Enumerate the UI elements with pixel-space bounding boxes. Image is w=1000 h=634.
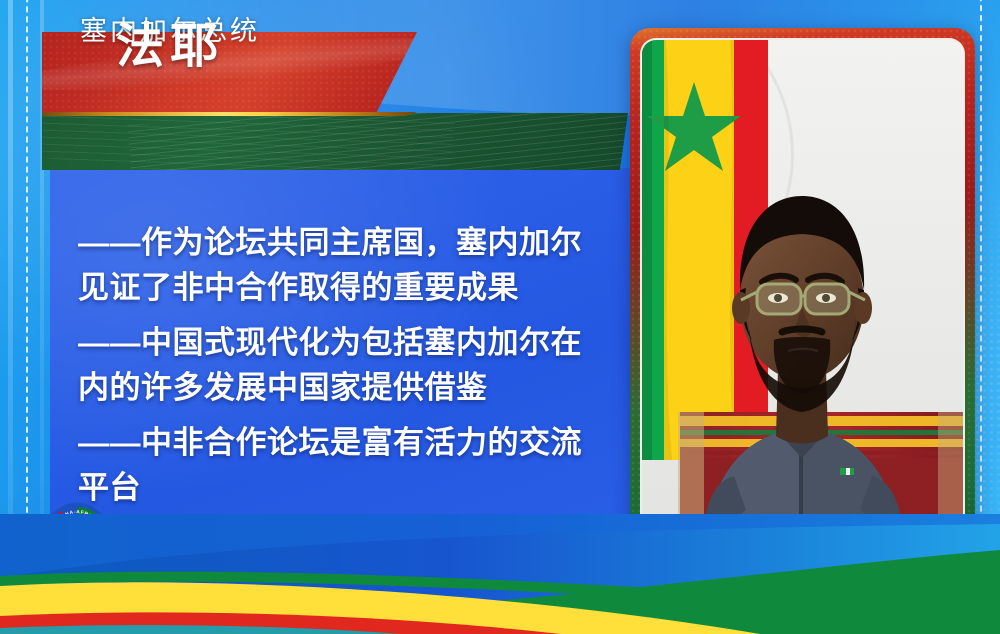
subtitle-line-texture-secondary bbox=[42, 113, 455, 170]
quote-item: ——中国式现代化为包括塞内加尔在内的许多发展中国家提供借鉴 bbox=[78, 320, 608, 410]
gold-divider-rule bbox=[42, 112, 417, 116]
portrait-illustration bbox=[642, 40, 963, 572]
bottom-color-bands bbox=[0, 514, 1000, 634]
broadcast-graphic: 塞内加尔总统 法耶 ——作为论坛共同主席国，塞内加尔见证了非中合作取得的重要成果… bbox=[0, 0, 1000, 634]
portrait-frame bbox=[630, 28, 975, 584]
speaker-name: 法耶 bbox=[0, 0, 340, 82]
quote-item: ——作为论坛共同主席国，塞内加尔见证了非中合作取得的重要成果 bbox=[78, 220, 608, 310]
portrait-photo bbox=[642, 40, 963, 572]
subtitle-bar bbox=[42, 113, 628, 170]
quote-item: ——中非合作论坛是富有活力的交流平台 bbox=[78, 420, 608, 510]
quote-list: ——作为论坛共同主席国，塞内加尔见证了非中合作取得的重要成果 ——中国式现代化为… bbox=[78, 220, 608, 510]
